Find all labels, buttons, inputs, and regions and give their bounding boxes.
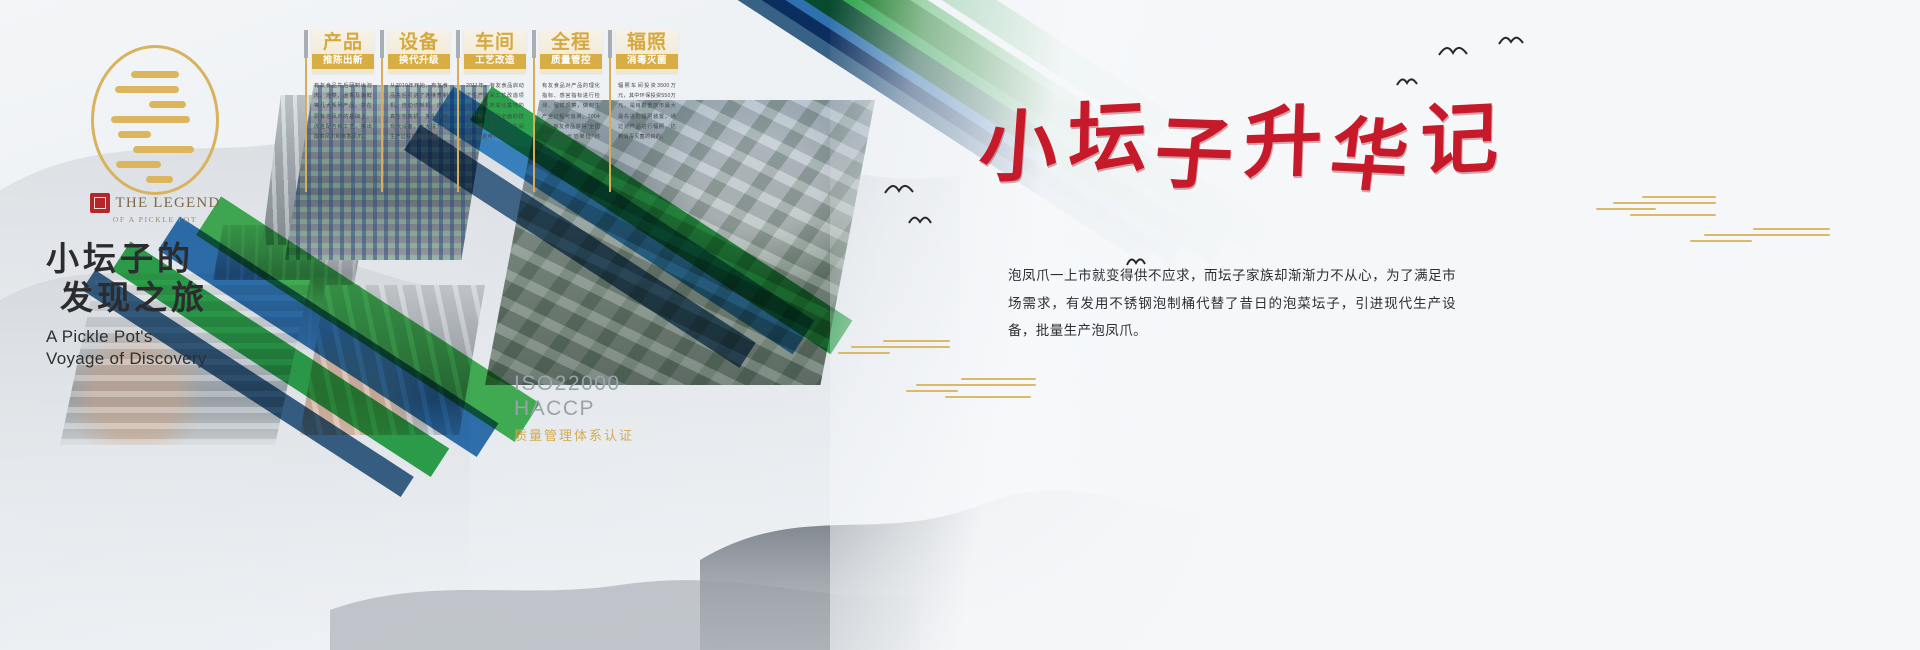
column-title: 辐照 (616, 33, 678, 52)
page-title: 小坛子升华记 (976, 85, 1504, 195)
bird-icon (1438, 44, 1468, 60)
column-rail-cap (532, 30, 536, 58)
gold-cloud-motif (906, 378, 1036, 402)
bird-icon (908, 214, 932, 227)
brand-cn-line1: 小坛子的 (46, 240, 270, 279)
column-title: 车间 (464, 33, 526, 52)
info-column-irradiation: 辐照 消毒灭菌 辐照车间投资3500万元，其中环保投资550万元，是目前重庆市最… (616, 30, 678, 142)
body-paragraph: 泡凤爪一上市就变得供不应求，而坛子家族却渐渐力不从心，为了满足市场需求，有发用不… (1008, 262, 1456, 345)
column-body: 从2010年开始，有友食品先后引进了连续煮制机、自动切制机、自动真空包装机、多头… (388, 81, 450, 142)
bird-icon (884, 182, 914, 198)
brand-en-title: A Pickle Pot's Voyage of Discovery (40, 326, 270, 370)
column-rail-cap (608, 30, 612, 58)
column-body: 2011年，有友食品启动了生产车间工艺改造项目，对重庆渝北基地的四个车间进行全面… (464, 81, 526, 142)
column-title: 设备 (388, 33, 450, 52)
red-stamp-icon (90, 193, 110, 213)
column-title: 全程 (540, 33, 602, 52)
headline-char-1: 小 (976, 85, 1072, 197)
column-badge: 全程 质量管控 (540, 30, 602, 73)
column-rail-cap (380, 30, 384, 58)
column-rail-cap (456, 30, 460, 58)
column-badge: 产品 推陈出新 (312, 30, 374, 73)
gold-cloud-motif (1596, 196, 1716, 220)
brand-en-line1: A Pickle Pot's (46, 326, 270, 348)
info-column-equipment: 设备 换代升级 从2010年开始，有友食品先后引进了连续煮制机、自动切制机、自动… (388, 30, 450, 142)
info-column-quality: 全程 质量管控 有友食品对产品的理化指标、感官指标进行检测、留样观察，做到生产全… (540, 30, 602, 152)
brand-cn-line2: 发现之旅 (46, 279, 270, 318)
cert-iso-line: ISO22000 (514, 372, 634, 397)
column-subtitle: 工艺改造 (464, 54, 526, 69)
brand-block: THE LEGEND OF A PICKLE POT 小坛子的 发现之旅 A P… (40, 45, 270, 369)
info-column-product: 产品 推陈出新 有友食品先后研制出泡肉、泡菜、卤香及海鲜等几大系列产品，并在原有… (312, 30, 374, 142)
legend-wordmark: THE LEGEND (40, 193, 270, 213)
column-rail-cap (304, 30, 308, 58)
column-subtitle: 消毒灭菌 (616, 54, 678, 69)
bird-icon (1126, 256, 1146, 268)
headline-char-4: 升 (1242, 78, 1334, 193)
bird-icon (1498, 34, 1524, 48)
brand-en-line2: Voyage of Discovery (46, 348, 270, 370)
legend-sub-text: OF A PICKLE POT (40, 215, 270, 224)
gold-cloud-motif (1690, 228, 1830, 246)
column-title: 产品 (312, 33, 374, 52)
brand-cn-title: 小坛子的 发现之旅 (40, 240, 270, 318)
column-body: 有友食品先后研制出泡肉、泡菜、卤香及海鲜等几大系列产品，并在原有泡凤爪的基础上，… (312, 81, 374, 142)
cert-cn-line: 质量管理体系认证 (514, 425, 634, 444)
column-badge: 设备 换代升级 (388, 30, 450, 73)
legend-en-text: THE LEGEND (116, 195, 221, 212)
column-body: 有友食品对产品的理化指标、感官指标进行检测、留样观察，做到生产全过程可追溯。20… (540, 81, 602, 152)
column-subtitle: 质量管控 (540, 54, 602, 69)
column-badge: 辐照 消毒灭菌 (616, 30, 678, 73)
headline-char-3: 子 (1150, 90, 1249, 205)
column-body: 辐照车间投资3500万元，其中环保投资550万元，是目前重庆市最大最先进的辐照装… (616, 81, 678, 142)
headline-char-6: 记 (1419, 75, 1509, 191)
info-column-workshop: 车间 工艺改造 2011年，有友食品启动了生产车间工艺改造项目，对重庆渝北基地的… (464, 30, 526, 142)
bird-icon (1396, 76, 1418, 88)
headline-char-2: 坛 (1067, 74, 1157, 190)
oval-seal-icon (91, 45, 219, 195)
cert-haccp-line: HACCP (514, 397, 634, 422)
column-badge: 车间 工艺改造 (464, 30, 526, 73)
certification-block: ISO22000 HACCP 质量管理体系认证 (514, 372, 634, 444)
banner-canvas: THE LEGEND OF A PICKLE POT 小坛子的 发现之旅 A P… (0, 0, 1920, 650)
column-subtitle: 推陈出新 (312, 54, 374, 69)
column-subtitle: 换代升级 (388, 54, 450, 69)
gold-cloud-motif (838, 340, 950, 358)
headline-char-5: 华 (1325, 92, 1426, 208)
